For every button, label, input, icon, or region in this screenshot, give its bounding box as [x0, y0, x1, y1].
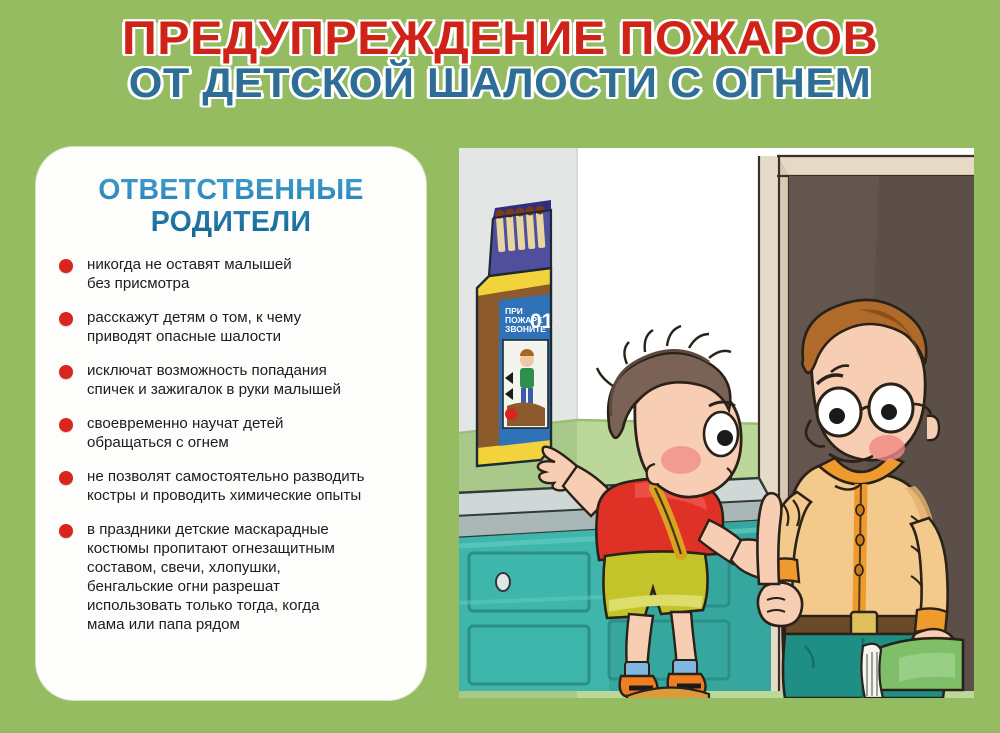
bullet-dot-icon: [59, 471, 73, 485]
father-button: [856, 535, 864, 546]
list-item: расскажут детям о том, к чему приводят о…: [50, 308, 412, 346]
father-button: [856, 505, 864, 516]
bullet-dot-icon: [59, 418, 73, 432]
father-ear: [927, 416, 939, 441]
father-hand: [758, 582, 802, 626]
poster-title-line-2: ОТ ДЕТСКОЙ ШАЛОСТИ С ОГНЕМ: [0, 62, 1000, 104]
responsible-parents-card: ОТВЕТСТВЕННЫЕ РОДИТЕЛИ никогда не оставя…: [36, 147, 426, 700]
list-item-text: расскажут детям о том, к чему приводят о…: [87, 308, 412, 346]
poster-title: ПРЕДУПРЕЖДЕНИЕ ПОЖАРОВ ОТ ДЕТСКОЙ ШАЛОСТ…: [0, 14, 1000, 104]
father-index-finger: [757, 493, 781, 584]
poster-title-line-1: ПРЕДУПРЕЖДЕНИЕ ПОЖАРОВ: [0, 14, 1000, 61]
card-heading-line-1: ОТВЕТСТВЕННЫЕ: [54, 174, 408, 206]
list-item-text: своевременно научат детей обращаться с о…: [87, 414, 412, 452]
advice-bullet-list: никогда не оставят малышей без присмотра…: [36, 255, 426, 634]
father-button: [855, 565, 863, 576]
father-pupil: [881, 404, 897, 420]
bullet-dot-icon: [59, 365, 73, 379]
list-item-text: никогда не оставят малышей без присмотра: [87, 255, 412, 293]
drawer-knob: [496, 573, 510, 591]
bullet-dot-icon: [59, 524, 73, 538]
card-heading-line-2: РОДИТЕЛИ: [54, 206, 408, 238]
poster-root: ПРЕДУПРЕЖДЕНИЕ ПОЖАРОВ ОТ ДЕТСКОЙ ШАЛОСТ…: [0, 0, 1000, 733]
list-item: исключат возможность попадания спичек и …: [50, 361, 412, 399]
list-item-text: не позволят самостоятельно разводить кос…: [87, 467, 412, 505]
list-item-text: в праздники детские маскарадные костюмы …: [87, 520, 412, 634]
card-heading: ОТВЕТСТВЕННЫЕ РОДИТЕЛИ: [54, 174, 408, 239]
father-pupil: [829, 408, 845, 424]
list-item: своевременно научат детей обращаться с о…: [50, 414, 412, 452]
father-blush: [869, 435, 905, 461]
kitchen-scene-illustration: ПРИ ПОЖАРЕ ЗВОНИТЕ 01: [459, 148, 974, 698]
bullet-dot-icon: [59, 259, 73, 273]
bullet-dot-icon: [59, 312, 73, 326]
boy-blush: [661, 446, 701, 474]
list-item: никогда не оставят малышей без присмотра: [50, 255, 412, 293]
list-item: не позволят самостоятельно разводить кос…: [50, 467, 412, 505]
list-item: в праздники детские маскарадные костюмы …: [50, 520, 412, 634]
list-item-text: исключат возможность попадания спичек и …: [87, 361, 412, 399]
boy-pupil: [717, 430, 733, 446]
door-lintel: [777, 156, 974, 176]
